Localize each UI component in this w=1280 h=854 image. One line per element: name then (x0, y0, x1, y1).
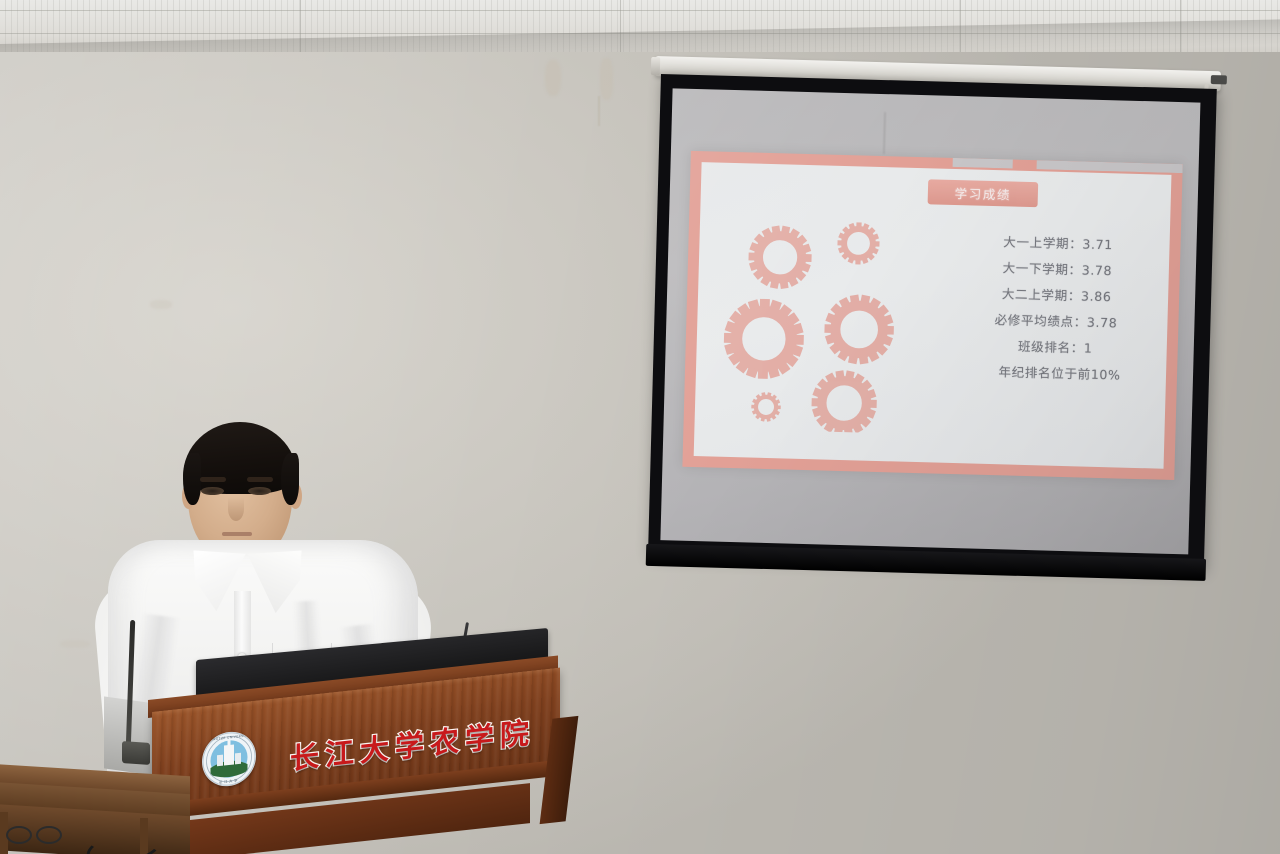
screen-surface: 学习成绩 大一上学期：3.71 大一下学期：3.78 大二上学期：3.86 (660, 88, 1200, 554)
wall-mark (150, 300, 172, 309)
gear-cluster-illustration (713, 214, 919, 434)
left-eyebrow (200, 477, 226, 482)
wall-mark (545, 60, 561, 96)
hair-sideburn-left (183, 453, 201, 505)
slide-title-badge: 学习成绩 (928, 179, 1039, 207)
lecture-hall-photo: 学习成绩 大一上学期：3.71 大一下学期：3.78 大二上学期：3.86 (0, 0, 1280, 854)
wall-hairline (598, 96, 600, 126)
right-eye (248, 487, 271, 495)
gear-svg (713, 214, 919, 434)
nose (228, 497, 244, 521)
screen-smudge (883, 112, 886, 154)
slide-line: 班级排名：1 (948, 334, 1163, 359)
slide-line: 大一下学期：3.78 (950, 256, 1165, 281)
housing-bracket (1211, 75, 1227, 84)
mouth (222, 532, 252, 536)
left-eye (201, 487, 224, 495)
hair-sideburn-right (281, 453, 299, 505)
wall-mark (60, 640, 90, 648)
projection-screen: 学习成绩 大一上学期：3.71 大一下学期：3.78 大二上学期：3.86 (648, 74, 1217, 587)
right-eyebrow (247, 477, 273, 482)
slide-line: 大二上学期：3.86 (949, 282, 1164, 307)
eyeglasses (6, 826, 64, 844)
slide-text-lines: 大一上学期：3.71 大一下学期：3.78 大二上学期：3.86 必修平均绩点：… (947, 230, 1166, 385)
wall-mark (600, 58, 613, 100)
presentation-slide: 学习成绩 大一上学期：3.71 大一下学期：3.78 大二上学期：3.86 (682, 151, 1182, 480)
slide-line: 必修平均绩点：3.78 (948, 308, 1163, 333)
